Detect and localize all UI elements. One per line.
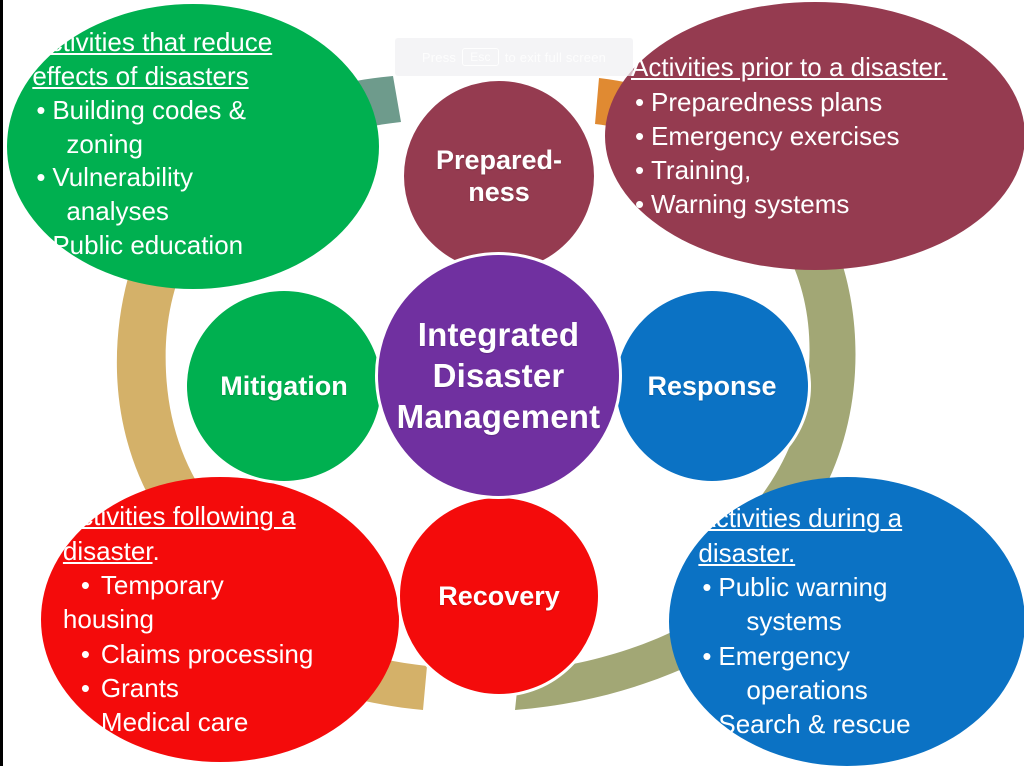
fullscreen-exit-hint: Press Esc to exit full screen [395, 38, 633, 76]
callout-recovery-heading-line2: disaster [63, 536, 153, 566]
node-preparedness-label-line1: Prepared- [436, 144, 562, 176]
callout-response-list: Public warning systems Emergency operati… [698, 570, 1011, 742]
callout-preparedness-item2: Emergency exercises [651, 121, 900, 151]
callout-mitigation-item2-line2: analyses [66, 196, 169, 226]
hub-label-line3: Management [397, 396, 601, 437]
callout-mitigation-heading-line2: effects of disasters [32, 60, 359, 94]
list-item: Temporary [63, 568, 385, 602]
callout-response-item2-line2: operations [746, 675, 867, 705]
node-response: Response [613, 288, 811, 484]
list-item: Emergency [698, 639, 1011, 673]
callout-mitigation: Activities that reduce effects of disast… [7, 4, 379, 289]
hub-integrated-disaster-management: Integrated Disaster Management [375, 252, 622, 499]
slide-canvas: Activities that reduce effects of disast… [0, 0, 1024, 766]
list-item: Grants [63, 671, 385, 705]
list-item: Building codes & [32, 94, 359, 128]
list-item-continuation: zoning [32, 128, 359, 162]
list-item-continuation: housing [63, 602, 385, 636]
callout-response-item1-line1: Public warning [718, 572, 887, 602]
node-recovery-label: Recovery [438, 580, 560, 612]
callout-preparedness-content: Activities prior to a disaster. Prepared… [631, 50, 1009, 222]
node-preparedness: Prepared- ness [401, 78, 597, 274]
callout-response-heading-line1: Activities during a [698, 501, 1011, 535]
callout-mitigation-item1-line2: zoning [66, 129, 143, 159]
callout-response-heading-line2: disaster. [698, 536, 795, 570]
callout-mitigation-list: Building codes & zoning Vulnerability an… [32, 94, 359, 263]
callout-recovery-item1-line1: Temporary [101, 570, 224, 600]
node-mitigation-label: Mitigation [220, 370, 347, 402]
callout-preparedness-item3: Training, [651, 155, 751, 185]
list-item: Preparedness plans [631, 85, 1009, 119]
callout-response-item3: Search & rescue [718, 709, 910, 739]
node-response-label: Response [647, 370, 776, 402]
list-item: Medical care [63, 705, 385, 739]
callout-recovery-item3: Grants [101, 673, 179, 703]
callout-recovery-item2: Claims processing [101, 639, 313, 669]
list-item-continuation: operations [698, 673, 1011, 707]
list-item: Public education [32, 229, 359, 263]
list-item: Vulnerability [32, 161, 359, 195]
node-recovery: Recovery [397, 495, 601, 697]
callout-mitigation-item2-line1: Vulnerability [52, 162, 193, 192]
callout-recovery-content: Activities following a disaster. Tempora… [63, 499, 385, 739]
callout-response-item2-line1: Emergency [718, 641, 850, 671]
callout-recovery-item4: Medical care [101, 707, 248, 737]
node-preparedness-label: Prepared- ness [436, 144, 562, 209]
list-item: Emergency exercises [631, 119, 1009, 153]
page-number: 13 [972, 722, 996, 748]
hub-label-line2: Disaster [397, 355, 601, 396]
callout-recovery-item1-line2: housing [63, 604, 154, 634]
callout-preparedness-list: Preparedness plans Emergency exercises T… [631, 85, 1009, 222]
list-item-continuation: systems [698, 604, 1011, 638]
list-item-continuation: analyses [32, 195, 359, 229]
callout-preparedness-item1: Preparedness plans [651, 87, 882, 117]
callout-mitigation-item3: Public education [52, 230, 243, 260]
callout-recovery-heading-line1: Activities following a [63, 499, 385, 533]
node-preparedness-label-line2: ness [436, 176, 562, 208]
fullscreen-hint-prefix: Press [422, 50, 456, 65]
hub-label: Integrated Disaster Management [397, 314, 601, 438]
callout-mitigation-item1-line1: Building codes & [52, 95, 246, 125]
list-item: Claims processing [63, 637, 385, 671]
callout-preparedness-item4: Warning systems [651, 189, 849, 219]
list-item: Warning systems [631, 187, 1009, 221]
callout-mitigation-heading-line1: Activities that reduce [32, 26, 359, 60]
hub-label-line1: Integrated [397, 314, 601, 355]
callout-mitigation-content: Activities that reduce effects of disast… [32, 26, 359, 267]
callout-recovery-list: Temporary housing Claims processing Gran… [63, 568, 385, 740]
fullscreen-hint-suffix: to exit full screen [505, 50, 606, 65]
esc-key-badge: Esc [462, 48, 499, 66]
callout-recovery-heading-period: . [153, 536, 160, 566]
list-item: Search & rescue [698, 707, 1011, 741]
callout-response-item1-line2: systems [746, 606, 841, 636]
callout-recovery: Activities following a disaster. Tempora… [41, 477, 399, 762]
callout-response-content: Activities during a disaster. Public war… [698, 501, 1011, 741]
callout-recovery-heading-line2-wrap: disaster. [63, 534, 385, 568]
callout-preparedness-heading: Activities prior to a disaster. [631, 50, 1009, 84]
list-item: Training, [631, 153, 1009, 187]
callout-preparedness: Activities prior to a disaster. Prepared… [605, 2, 1024, 270]
list-item: Public warning [698, 570, 1011, 604]
node-mitigation: Mitigation [184, 288, 384, 484]
